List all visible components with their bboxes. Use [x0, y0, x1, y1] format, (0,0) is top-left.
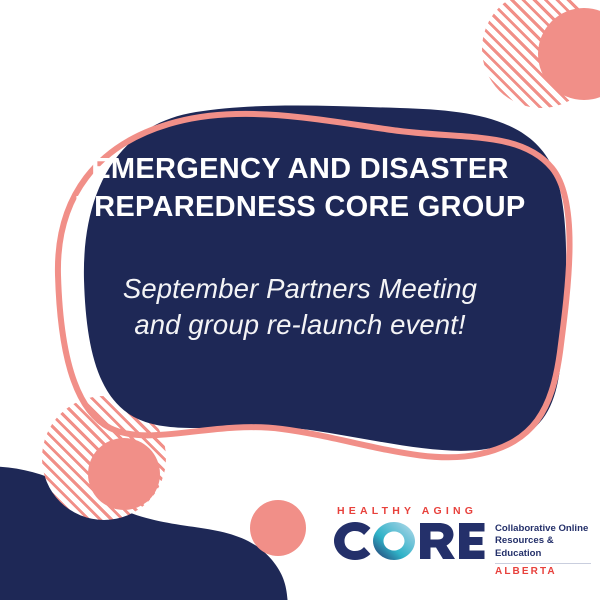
logo-province-alberta: ALBERTA	[495, 567, 591, 577]
solid-circle-bottom-center-icon	[250, 500, 306, 556]
core-alberta-logo: HEALTHY AGING	[333, 506, 581, 578]
poster-text-block: EMERGENCY AND DISASTER PREPAREDNESS CORE…	[70, 150, 530, 344]
poster-headline: EMERGENCY AND DISASTER PREPAREDNESS CORE…	[70, 150, 530, 227]
poster-canvas: EMERGENCY AND DISASTER PREPAREDNESS CORE…	[0, 0, 600, 600]
core-wordmark-icon	[333, 519, 485, 563]
logo-tagline: Collaborative Online Resources & Educati…	[495, 523, 591, 560]
logo-tagline-divider	[495, 563, 591, 564]
logo-eyebrow-healthy-aging: HEALTHY AGING	[333, 506, 485, 517]
poster-subhead: September Partners Meeting and group re-…	[70, 271, 530, 345]
solid-circle-bottom-left-icon	[88, 438, 160, 510]
logo-tagline-group: Collaborative Online Resources & Educati…	[495, 506, 591, 577]
logo-wordmark-group: HEALTHY AGING	[333, 506, 485, 563]
